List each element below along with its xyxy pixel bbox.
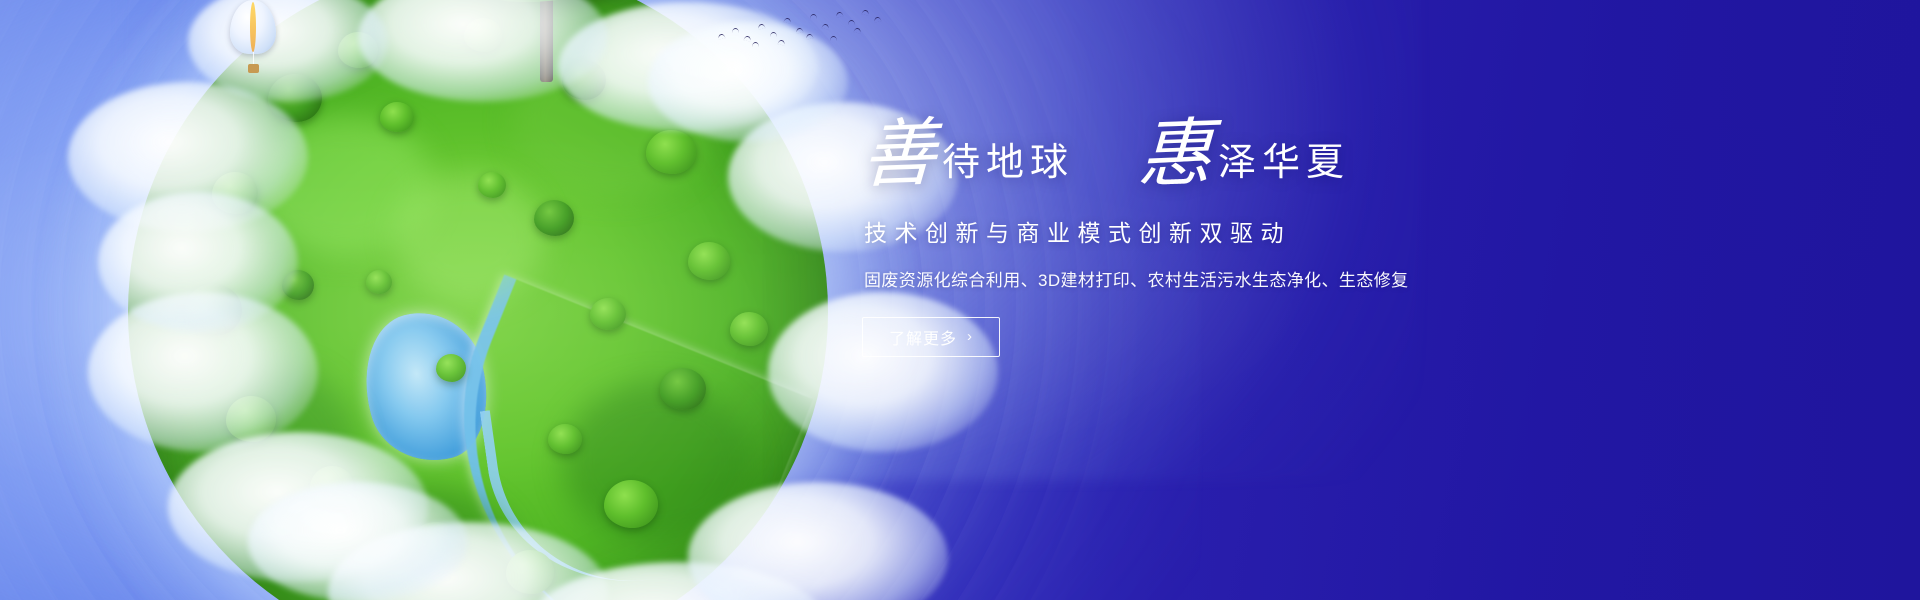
learn-more-label: 了解更多 bbox=[889, 325, 957, 349]
headline-group-1: 善 待地球 bbox=[862, 118, 1074, 192]
headline-char-large-2: 惠 bbox=[1137, 117, 1220, 194]
chevron-right-icon: › bbox=[967, 329, 973, 344]
hero-content: 善 待地球 惠 泽华夏 技术创新与商业模式创新双驱动 固废资源化综合利用、3D建… bbox=[862, 118, 1562, 357]
headline-char-large-1: 善 bbox=[861, 117, 944, 194]
description: 固废资源化综合利用、3D建材打印、农村生活污水生态净化、生态修复 bbox=[864, 266, 1562, 291]
headline-chars-small-1: 待地球 bbox=[942, 144, 1074, 182]
subtitle: 技术创新与商业模式创新双驱动 bbox=[864, 214, 1562, 248]
headline-chars-small-2: 泽华夏 bbox=[1218, 144, 1350, 182]
headline-group-2: 惠 泽华夏 bbox=[1138, 118, 1350, 192]
learn-more-button[interactable]: 了解更多 › bbox=[862, 317, 1000, 357]
headline: 善 待地球 惠 泽华夏 bbox=[862, 118, 1562, 192]
hero-banner: 善 待地球 惠 泽华夏 技术创新与商业模式创新双驱动 固废资源化综合利用、3D建… bbox=[0, 0, 1920, 600]
